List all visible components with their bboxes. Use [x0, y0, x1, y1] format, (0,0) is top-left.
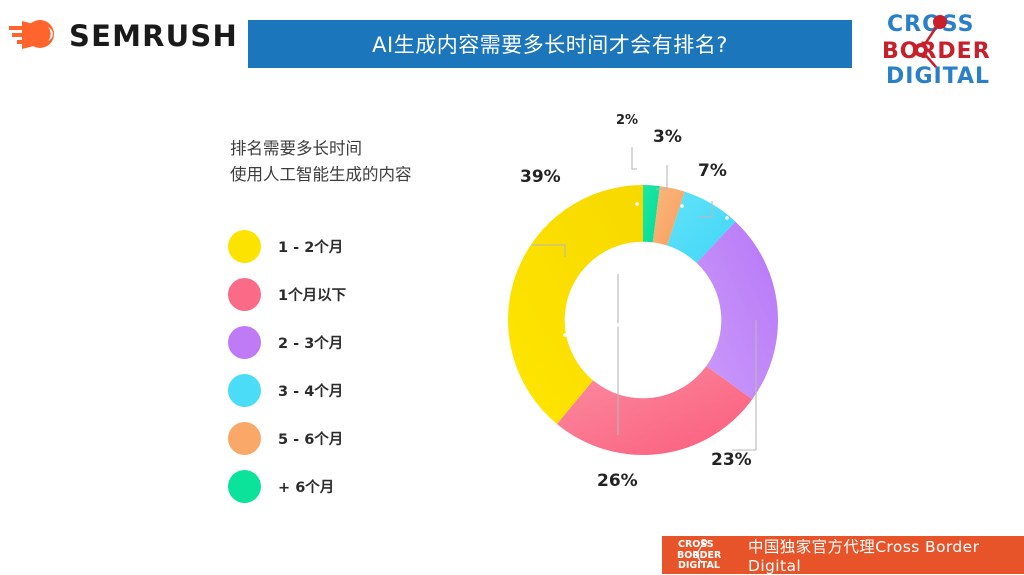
data-label-39pct: 39% — [520, 167, 561, 187]
legend-item[interactable]: 2 - 3个月 — [228, 318, 346, 366]
donut-slices — [508, 185, 778, 455]
legend-item[interactable]: 5 - 6个月 — [228, 414, 346, 462]
footer-cross-border-digital-logo: CROSS BORDER DIGITAL — [676, 537, 734, 574]
chart-legend: 1 - 2个月 1个月以下 2 - 3个月 3 - 4个月 5 - 6个月 + … — [228, 222, 346, 510]
footer-bar: CROSS BORDER DIGITAL 中国独家官方代理Cross Borde… — [662, 536, 1024, 574]
data-label-7pct: 7% — [698, 161, 727, 181]
footer-text: 中国独家官方代理Cross Border Digital — [748, 535, 1024, 575]
leader-line-2pct — [632, 147, 637, 169]
legend-item-label: 2 - 3个月 — [278, 332, 343, 353]
semrush-wordmark: SEMRUSH — [69, 19, 238, 53]
legend-swatch-icon — [228, 326, 261, 359]
legend-item[interactable]: + 6个月 — [228, 462, 346, 510]
semrush-logo: SEMRUSH — [8, 16, 238, 55]
legend-swatch-icon — [228, 422, 261, 455]
legend-item[interactable]: 1 - 2个月 — [228, 222, 346, 270]
svg-text:DIGITAL: DIGITAL — [886, 64, 990, 88]
legend-swatch-icon — [228, 278, 261, 311]
svg-text:CROSS: CROSS — [678, 539, 714, 550]
page-header: SEMRUSH AI生成内容需要多长时间才会有排名? CROSS BORDER … — [0, 0, 1024, 100]
legend-item[interactable]: 3 - 4个月 — [228, 366, 346, 414]
legend-swatch-icon — [228, 374, 261, 407]
page-title: AI生成内容需要多长时间才会有排名? — [372, 29, 728, 59]
legend-swatch-icon — [228, 470, 261, 503]
donut-slice[interactable] — [508, 185, 643, 424]
donut-chart: 2% 3% 7% 23% 26% 39% — [470, 105, 870, 525]
data-label-23pct: 23% — [711, 450, 752, 470]
legend-swatch-icon — [228, 230, 261, 263]
semrush-comet-icon — [8, 16, 60, 55]
data-label-3pct: 3% — [653, 127, 682, 147]
svg-text:DIGITAL: DIGITAL — [678, 560, 720, 569]
legend-item-label: + 6个月 — [278, 476, 334, 497]
legend-item-label: 5 - 6个月 — [278, 428, 343, 449]
legend-item-label: 1 - 2个月 — [278, 236, 343, 257]
title-banner: AI生成内容需要多长时间才会有排名? — [248, 20, 852, 68]
data-label-2pct: 2% — [616, 113, 638, 128]
chart-heading-line2: 使用人工智能生成的内容 — [230, 162, 412, 188]
chart-heading: 排名需要多长时间 使用人工智能生成的内容 — [230, 136, 412, 188]
cross-border-digital-logo: CROSS BORDER DIGITAL — [876, 10, 1002, 88]
legend-item[interactable]: 1个月以下 — [228, 270, 346, 318]
svg-text:BORDER: BORDER — [882, 39, 991, 64]
data-label-26pct: 26% — [597, 471, 638, 491]
chart-heading-line1: 排名需要多长时间 — [230, 136, 412, 162]
legend-item-label: 1个月以下 — [278, 284, 346, 305]
legend-item-label: 3 - 4个月 — [278, 380, 343, 401]
